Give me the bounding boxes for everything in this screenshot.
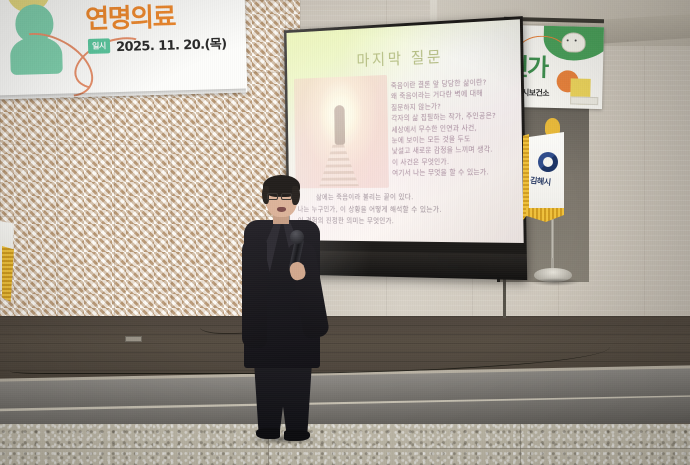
city-flag-label: 김해시 <box>529 175 551 188</box>
banner-date-label: 일시 <box>88 38 110 54</box>
city-emblem-inner-icon <box>543 157 553 167</box>
floor-seam <box>0 448 690 449</box>
speaker-hair-side-right <box>292 186 300 205</box>
figure-silhouette-icon <box>334 105 345 145</box>
left-event-banner: 제1장(W 연명의료 일시 2025. 11. 20.(목) <box>0 0 247 99</box>
banner-date-value: 2025. 11. 20.(목) <box>116 33 227 55</box>
speaker-trousers <box>254 362 312 434</box>
eyeglasses-bridge-icon <box>278 196 281 197</box>
banner-title: 연명의료 <box>85 0 176 36</box>
floor-seam <box>520 424 521 465</box>
eyeglasses-icon <box>281 193 292 200</box>
speaker-shoe-left <box>256 428 280 439</box>
speaker-shoe-right <box>284 430 310 441</box>
slide-body-line: 여기서 나는 무엇을 할 수 있는가. <box>392 166 517 178</box>
speaker-mouth <box>277 207 286 212</box>
eyeglasses-icon <box>267 193 278 200</box>
speaker-person <box>228 176 332 444</box>
slide-illustration <box>294 75 389 188</box>
flag-fringe-left <box>523 134 529 220</box>
mascot-eye-icon <box>567 39 569 41</box>
flag-stand-shadow <box>530 278 580 286</box>
speaker-arm-left <box>242 238 267 348</box>
sponsor-logo-strip <box>570 96 598 105</box>
mascot-icon <box>561 32 585 53</box>
photo-scene: 제1장(W 연명의료 일시 2025. 11. 20.(목) 인가 김해시보건소… <box>0 0 690 465</box>
slide-body-text: 죽음이란 결론 앞 당당한 삶이란? 왜 죽음이라는 거다란 벽에 대해 질문하… <box>391 75 517 178</box>
slide-title: 마지막 질문 <box>287 39 521 73</box>
floor-outlet-box <box>125 336 142 342</box>
mascot-eye-icon <box>575 39 577 41</box>
terrazzo-floor <box>0 424 690 465</box>
